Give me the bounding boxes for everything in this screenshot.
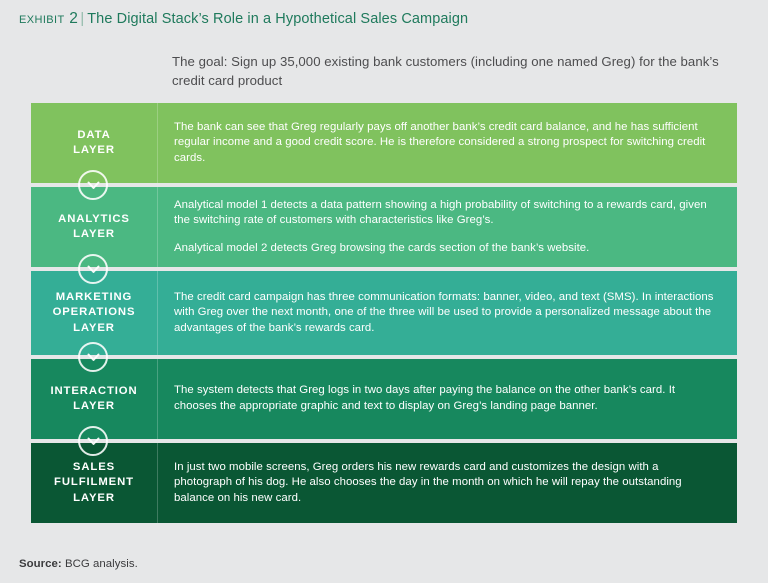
layer-body-analytics-layer: Analytical model 1 detects a data patter… [158,187,737,267]
layer-label-marketing-operations-layer: MARKETINGOPERATIONSLAYER [31,271,158,355]
layer-paragraph: Analytical model 2 detects Greg browsing… [174,241,715,257]
layer-label-line: LAYER [54,491,134,507]
header-separator: | [78,11,87,27]
layer-label-line: FULFILMENT [54,475,134,491]
source-text: BCG analysis. [65,558,138,570]
layer-paragraph: The bank can see that Greg regularly pay… [174,120,715,167]
layer-label-text: MARKETINGOPERATIONSLAYER [53,290,136,337]
layer-label-line: MARKETING [53,290,136,306]
layer-row-interaction-layer: INTERACTIONLAYERThe system detects that … [31,359,737,439]
exhibit-title: The Digital Stack’s Role in a Hypothetic… [87,11,468,27]
layer-label-line: LAYER [58,227,130,243]
layer-label-text: ANALYTICSLAYER [58,212,130,243]
layer-label-sales-fulfilment-layer: SALESFULFILMENTLAYER [31,443,158,523]
layer-label-line: SALES [54,460,134,476]
layer-label-line: LAYER [53,321,136,337]
layer-paragraph: Analytical model 1 detects a data patter… [174,198,715,229]
exhibit-number-label: Exhibit 2 [19,10,78,27]
layer-body-marketing-operations-layer: The credit card campaign has three commu… [158,271,737,355]
digital-stack-diagram: DATALAYERThe bank can see that Greg regu… [31,103,737,523]
layer-row-sales-fulfilment-layer: SALESFULFILMENTLAYERIn just two mobile s… [31,443,737,523]
layer-paragraph: The credit card campaign has three commu… [174,290,715,337]
layer-paragraph: In just two mobile screens, Greg orders … [174,460,715,507]
layer-label-line: OPERATIONS [53,305,136,321]
exhibit-header: Exhibit 2|The Digital Stack’s Role in a … [19,10,749,28]
layer-row-analytics-layer: ANALYTICSLAYERAnalytical model 1 detects… [31,187,737,267]
goal-statement: The goal: Sign up 35,000 existing bank c… [172,52,738,90]
layer-label-line: DATA [73,128,115,144]
layer-label-line: ANALYTICS [58,212,130,228]
layer-label-text: INTERACTIONLAYER [50,384,137,415]
source-label: Source: [19,558,62,570]
layer-body-sales-fulfilment-layer: In just two mobile screens, Greg orders … [158,443,737,523]
layer-body-data-layer: The bank can see that Greg regularly pay… [158,103,737,183]
layer-label-text: DATALAYER [73,128,115,159]
source-note: Source: BCG analysis. [19,558,138,570]
layer-label-line: INTERACTION [50,384,137,400]
layer-row-data-layer: DATALAYERThe bank can see that Greg regu… [31,103,737,183]
layer-label-line: LAYER [50,399,137,415]
layer-body-interaction-layer: The system detects that Greg logs in two… [158,359,737,439]
layer-label-text: SALESFULFILMENTLAYER [54,460,134,507]
layer-paragraph: The system detects that Greg logs in two… [174,383,715,414]
layer-row-marketing-operations-layer: MARKETINGOPERATIONSLAYERThe credit card … [31,271,737,355]
layer-label-line: LAYER [73,143,115,159]
layer-label-data-layer: DATALAYER [31,103,158,183]
layer-label-analytics-layer: ANALYTICSLAYER [31,187,158,267]
layer-label-interaction-layer: INTERACTIONLAYER [31,359,158,439]
